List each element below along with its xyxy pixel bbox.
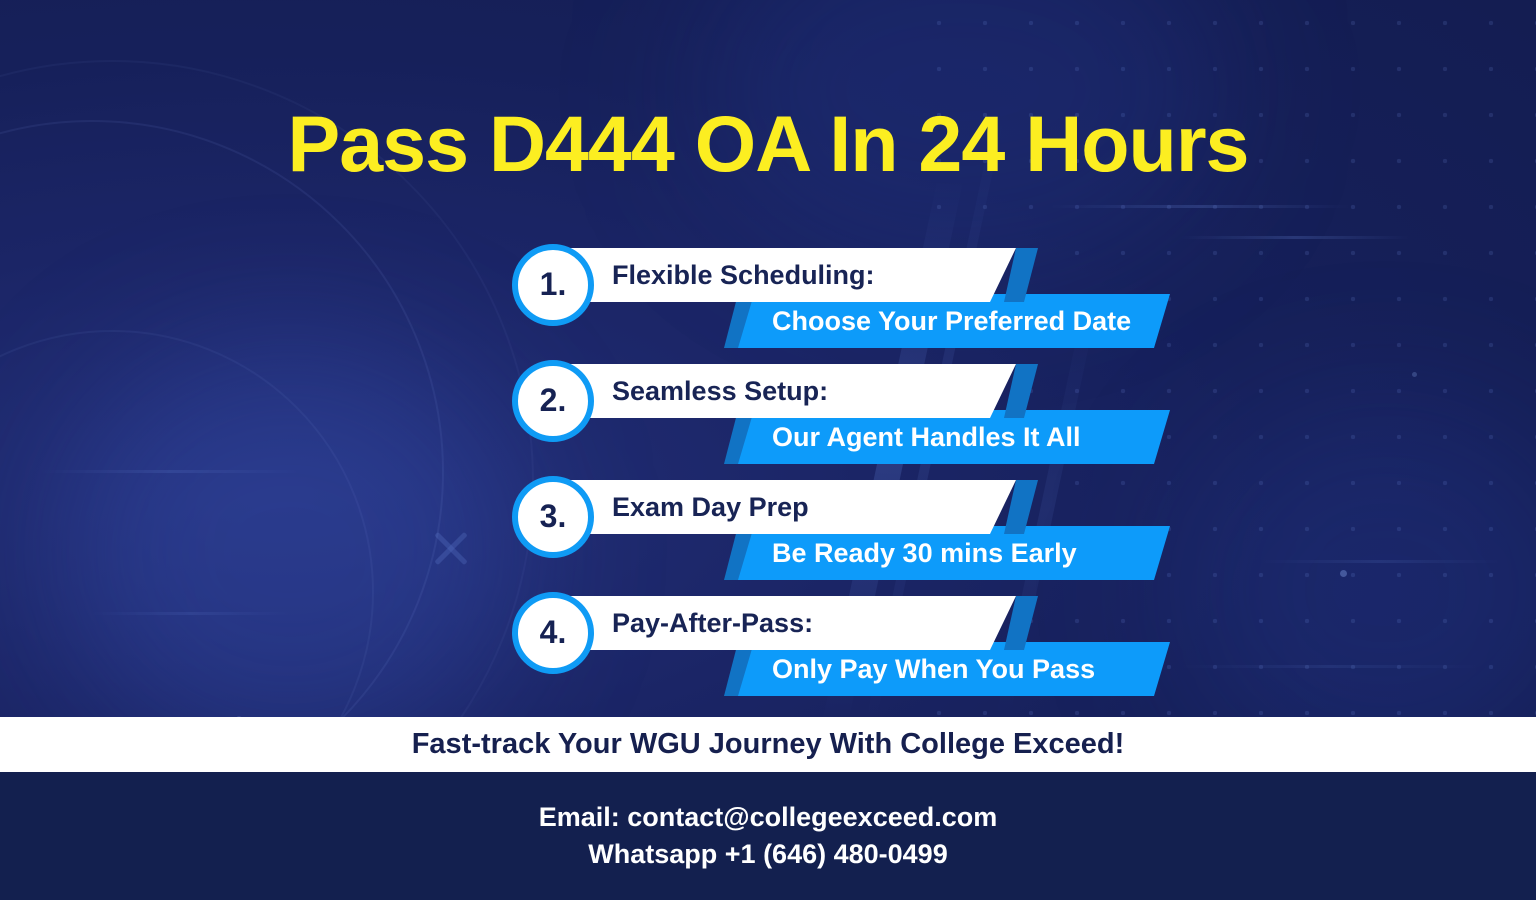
steps-list: Choose Your Preferred Date Flexible Sche… bbox=[512, 238, 1192, 702]
step-subtitle: Only Pay When You Pass bbox=[772, 654, 1095, 685]
contact-band: Email: contact@collegeexceed.com Whatsap… bbox=[0, 772, 1536, 900]
step-subtitle: Choose Your Preferred Date bbox=[772, 306, 1131, 337]
list-item: Be Ready 30 mins Early Exam Day Prep 3. bbox=[512, 470, 1192, 586]
step-title: Flexible Scheduling: bbox=[612, 260, 875, 291]
subtitle-banner: Our Agent Handles It All bbox=[738, 410, 1170, 464]
step-number-badge: 4. bbox=[512, 592, 594, 674]
contact-whatsapp[interactable]: Whatsapp +1 (646) 480-0499 bbox=[588, 839, 947, 870]
title-banner: Exam Day Prep bbox=[570, 480, 1016, 534]
title-banner: Pay-After-Pass: bbox=[570, 596, 1016, 650]
step-number: 2. bbox=[540, 384, 567, 416]
cross-mark-icon bbox=[430, 525, 472, 567]
page-title: Pass D444 OA In 24 Hours bbox=[0, 104, 1536, 183]
step-number: 1. bbox=[540, 268, 567, 300]
step-title: Pay-After-Pass: bbox=[612, 608, 813, 639]
step-number-badge: 3. bbox=[512, 476, 594, 558]
accent-line bbox=[1050, 205, 1350, 208]
tagline-text: Fast-track Your WGU Journey With College… bbox=[412, 728, 1125, 761]
step-subtitle: Our Agent Handles It All bbox=[772, 422, 1081, 453]
list-item: Choose Your Preferred Date Flexible Sche… bbox=[512, 238, 1192, 354]
step-number-badge: 1. bbox=[512, 244, 594, 326]
subtitle-banner: Be Ready 30 mins Early bbox=[738, 526, 1170, 580]
accent-line bbox=[1260, 560, 1500, 563]
accent-line bbox=[1180, 665, 1480, 668]
tagline-band: Fast-track Your WGU Journey With College… bbox=[0, 717, 1536, 772]
list-item: Our Agent Handles It All Seamless Setup:… bbox=[512, 354, 1192, 470]
step-number: 4. bbox=[540, 616, 567, 648]
step-number: 3. bbox=[540, 500, 567, 532]
dot-accent bbox=[1412, 372, 1417, 377]
contact-email[interactable]: Email: contact@collegeexceed.com bbox=[539, 802, 998, 833]
step-title: Seamless Setup: bbox=[612, 376, 828, 407]
accent-line bbox=[90, 612, 290, 615]
title-banner: Flexible Scheduling: bbox=[570, 248, 1016, 302]
accent-line bbox=[1180, 236, 1410, 239]
glow-blob-left bbox=[60, 340, 520, 760]
step-subtitle: Be Ready 30 mins Early bbox=[772, 538, 1077, 569]
promo-poster: Pass D444 OA In 24 Hours Choose Your Pre… bbox=[0, 0, 1536, 900]
subtitle-banner: Only Pay When You Pass bbox=[738, 642, 1170, 696]
dot-accent bbox=[1340, 570, 1347, 577]
accent-line bbox=[40, 470, 300, 473]
subtitle-banner: Choose Your Preferred Date bbox=[738, 294, 1170, 348]
list-item: Only Pay When You Pass Pay-After-Pass: 4… bbox=[512, 586, 1192, 702]
step-title: Exam Day Prep bbox=[612, 492, 809, 523]
title-banner: Seamless Setup: bbox=[570, 364, 1016, 418]
step-number-badge: 2. bbox=[512, 360, 594, 442]
